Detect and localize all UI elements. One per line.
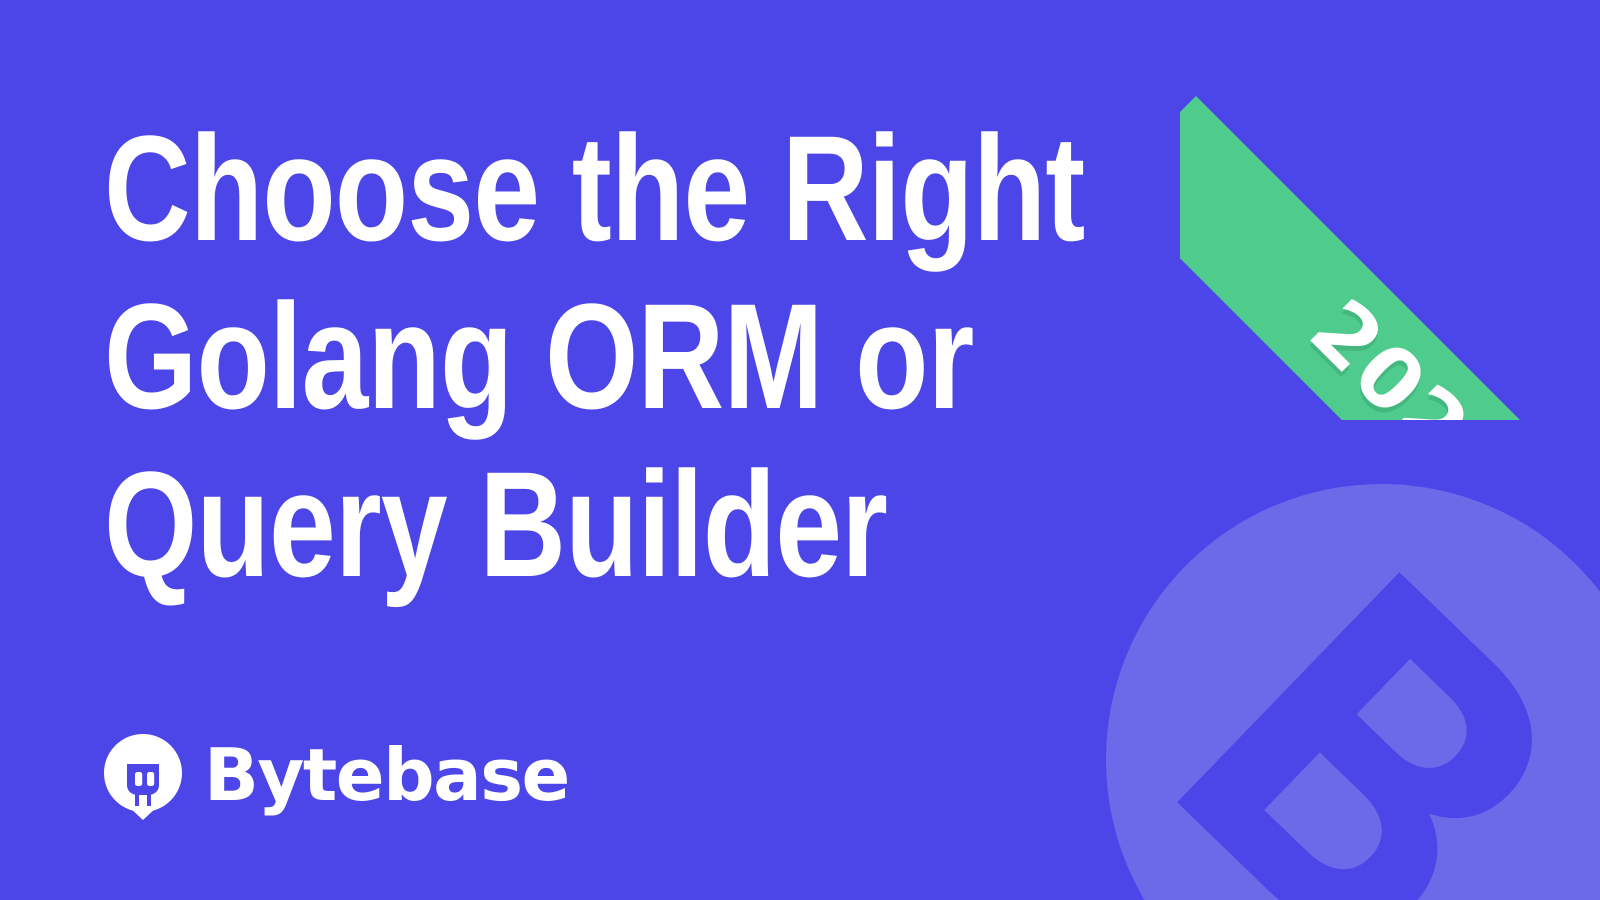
page-title: Choose the Right Golang ORM or Query Bui… — [104, 104, 1272, 608]
year-ribbon-band: 2025 — [1180, 96, 1592, 420]
year-ribbon: 2025 — [1180, 0, 1600, 420]
blog-cover-card: 2025 Choose the Right Golang ORM or Quer… — [0, 0, 1600, 900]
bytebase-logo-mark-icon — [104, 734, 182, 820]
year-ribbon-label: 2025 — [1296, 286, 1526, 420]
title-block: Choose the Right Golang ORM or Query Bui… — [104, 104, 1284, 608]
brand-logo: Bytebase — [104, 734, 569, 820]
brand-name: Bytebase — [204, 739, 569, 811]
